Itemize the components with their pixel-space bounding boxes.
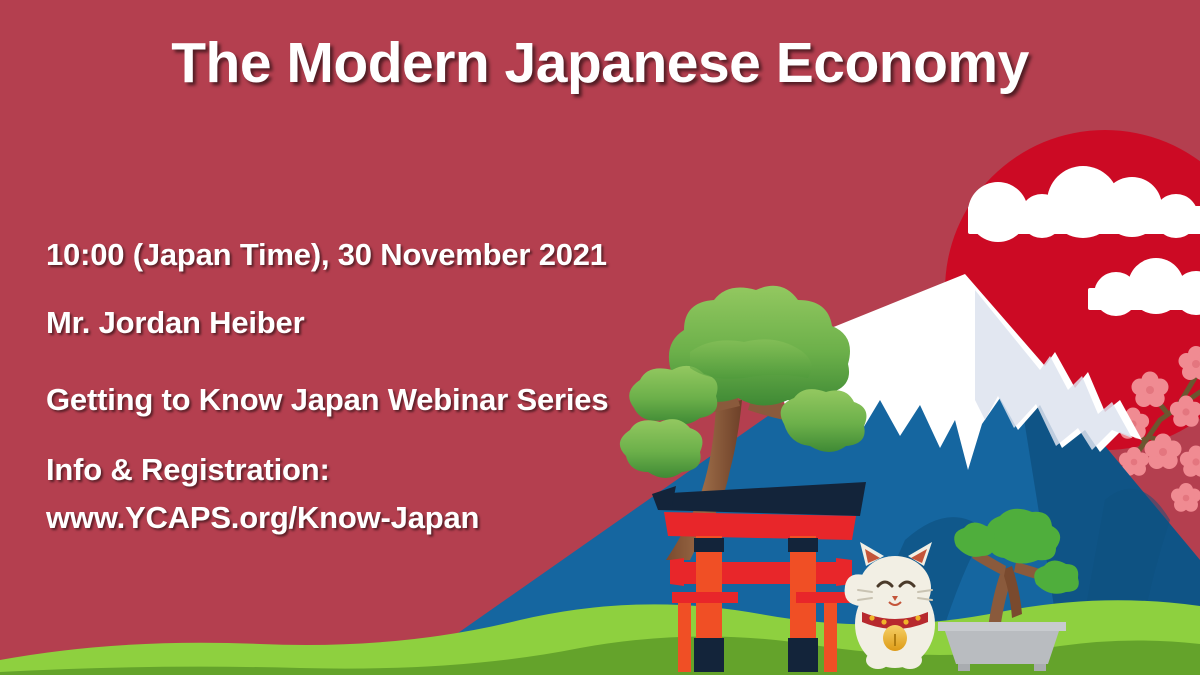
text-layer: The Modern Japanese Economy 10:00 (Japan… (0, 0, 1200, 675)
registration-label-line: Info & Registration: (46, 452, 330, 488)
registration-url-line[interactable]: www.YCAPS.org/Know-Japan (46, 500, 479, 536)
webinar-promo-slide: The Modern Japanese Economy 10:00 (Japan… (0, 0, 1200, 675)
event-datetime-line: 10:00 (Japan Time), 30 November 2021 (46, 237, 607, 273)
slide-title: The Modern Japanese Economy (0, 30, 1200, 96)
series-name-line: Getting to Know Japan Webinar Series (46, 382, 608, 418)
speaker-name-line: Mr. Jordan Heiber (46, 305, 304, 341)
